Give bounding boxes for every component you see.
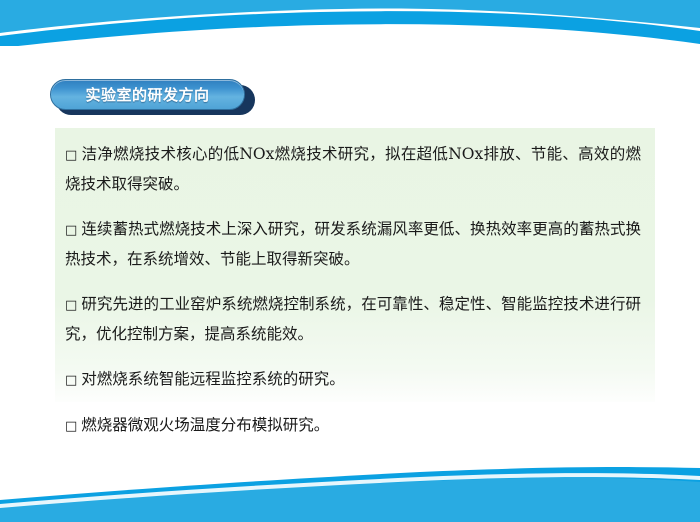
section-title-badge: 实验室的研发方向 (50, 79, 255, 115)
list-item: □燃烧器微观火场温度分布模拟研究。 (65, 411, 641, 441)
wave-top-icon (0, 0, 700, 46)
list-item-text: 研究先进的工业窑炉系统燃烧控制系统，在可靠性、稳定性、智能监控技术进行研究，优化… (65, 295, 641, 343)
bullet-square-icon: □ (65, 148, 78, 163)
list-item-text: 燃烧器微观火场温度分布模拟研究。 (81, 416, 329, 434)
list-item: □研究先进的工业窑炉系统燃烧控制系统，在可靠性、稳定性、智能监控技术进行研究，优… (65, 290, 641, 349)
bullet-square-icon: □ (65, 223, 77, 238)
bullet-list: □洁净燃烧技术核心的低NOx燃烧技术研究，拟在超低NOx排放、节能、高效的燃烧技… (65, 140, 641, 441)
list-item-text: 连续蓄热式燃烧技术上深入研究，研发系统漏风率更低、换热效率更高的蓄热式换热技术，… (65, 220, 641, 268)
bullet-square-icon: □ (65, 298, 77, 313)
list-item: □连续蓄热式燃烧技术上深入研究，研发系统漏风率更低、换热效率更高的蓄热式换热技术… (65, 215, 641, 274)
list-item-text: 洁净燃烧技术核心的低NOx燃烧技术研究，拟在超低NOx排放、节能、高效的燃烧技术… (65, 145, 641, 193)
list-item-text: 对燃烧系统智能远程监控系统的研究。 (81, 370, 345, 388)
content-panel: □洁净燃烧技术核心的低NOx燃烧技术研究，拟在超低NOx排放、节能、高效的燃烧技… (55, 128, 655, 402)
badge-body: 实验室的研发方向 (50, 79, 245, 110)
list-item: □洁净燃烧技术核心的低NOx燃烧技术研究，拟在超低NOx排放、节能、高效的燃烧技… (65, 140, 641, 199)
page-title: 实验室的研发方向 (85, 84, 209, 105)
bullet-square-icon: □ (65, 419, 77, 434)
bullet-square-icon: □ (65, 373, 77, 388)
footer-company-name: 岳阳钟鼎热工电磁科技有限公司 (456, 468, 670, 489)
slide-canvas: 实验室的研发方向 □洁净燃烧技术核心的低NOx燃烧技术研究，拟在超低NOx排放、… (0, 0, 700, 522)
list-item: □对燃烧系统智能远程监控系统的研究。 (65, 365, 641, 395)
